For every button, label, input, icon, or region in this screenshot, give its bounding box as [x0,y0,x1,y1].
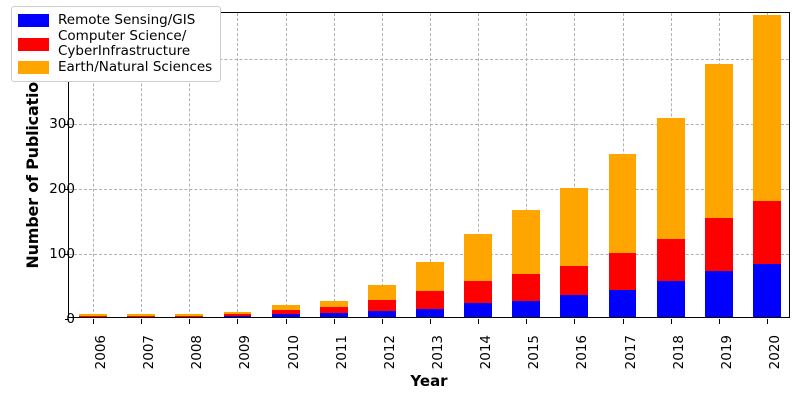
bar-segment-series-0[interactable] [705,271,733,317]
x-tick-label-2009: 2009 [237,335,253,395]
x-tick-mark [286,319,287,324]
x-tick-mark [767,319,768,324]
x-tick-label-2010: 2010 [286,335,302,395]
x-tick-mark [430,319,431,324]
bar-segment-series-1[interactable] [127,316,155,317]
bar-segment-series-2[interactable] [560,188,588,265]
bar-2016[interactable] [560,188,588,317]
bar-2013[interactable] [416,262,444,317]
bar-2017[interactable] [609,154,637,317]
legend-label: Computer Science/ CyberInfrastructure [58,29,190,59]
x-tick-label-2012: 2012 [382,335,398,395]
bar-segment-series-1[interactable] [175,316,203,317]
bar-2015[interactable] [512,210,540,317]
bar-segment-series-0[interactable] [368,311,396,317]
legend-item-2[interactable]: Earth/Natural Sciences [18,60,212,75]
bar-2020[interactable] [753,15,781,317]
bar-2010[interactable] [272,305,300,317]
bar-segment-series-1[interactable] [512,274,540,301]
bar-segment-series-1[interactable] [79,316,107,317]
bar-2011[interactable] [320,301,348,317]
x-tick-label-2019: 2019 [719,335,735,395]
x-tick-mark [526,319,527,324]
bar-2018[interactable] [657,118,685,317]
x-tick-label-2020: 2020 [767,335,783,395]
bar-segment-series-1[interactable] [705,218,733,271]
x-tick-label-2011: 2011 [334,335,350,395]
bar-segment-series-2[interactable] [705,64,733,218]
bar-segment-series-1[interactable] [464,281,492,304]
x-tick-mark [478,319,479,324]
bar-segment-series-0[interactable] [560,295,588,317]
x-tick-label-2016: 2016 [574,335,590,395]
x-tick-label-2008: 2008 [189,335,205,395]
bar-segment-series-0[interactable] [512,301,540,317]
bar-2014[interactable] [464,234,492,317]
bar-2009[interactable] [224,312,252,317]
x-tick-label-2007: 2007 [141,335,157,395]
legend-swatch-icon [18,61,49,74]
y-tick-label: 300 [31,116,75,132]
x-tick-mark [93,319,94,324]
bar-segment-series-1[interactable] [560,266,588,295]
x-tick-mark [623,319,624,324]
bar-segment-series-0[interactable] [753,264,781,317]
x-gridline [237,13,238,317]
x-tick-mark [671,319,672,324]
y-tick-label: 0 [31,311,75,327]
bar-segment-series-1[interactable] [368,300,396,311]
x-tick-label-2006: 2006 [93,335,109,395]
legend-label: Earth/Natural Sciences [58,60,212,75]
x-gridline [286,13,287,317]
bar-segment-series-1[interactable] [609,253,637,289]
y-tick-label: 100 [31,246,75,262]
bar-segment-series-0[interactable] [224,316,252,317]
x-tick-mark [574,319,575,324]
bar-segment-series-0[interactable] [272,314,300,317]
x-tick-mark [237,319,238,324]
bar-segment-series-2[interactable] [416,262,444,291]
bar-segment-series-2[interactable] [512,210,540,274]
x-tick-label-2017: 2017 [623,335,639,395]
bar-segment-series-0[interactable] [416,309,444,317]
bar-segment-series-2[interactable] [609,154,637,254]
bar-segment-series-1[interactable] [753,201,781,264]
legend-label: Remote Sensing/GIS [58,13,195,28]
x-tick-label-2014: 2014 [478,335,494,395]
bar-segment-series-2[interactable] [657,118,685,238]
bar-2019[interactable] [705,64,733,317]
bar-segment-series-1[interactable] [416,291,444,309]
bar-segment-series-2[interactable] [464,234,492,280]
x-gridline [334,13,335,317]
x-tick-mark [141,319,142,324]
stacked-bar-chart-figure: Number of Publications Year 010020030040… [0,0,800,400]
x-tick-mark [382,319,383,324]
x-tick-label-2013: 2013 [430,335,446,395]
bar-segment-series-0[interactable] [464,303,492,317]
bar-segment-series-0[interactable] [320,313,348,317]
bar-segment-series-0[interactable] [657,281,685,317]
y-tick-label: 200 [31,181,75,197]
bar-2007[interactable] [127,314,155,317]
legend-item-0[interactable]: Remote Sensing/GIS [18,13,212,28]
bar-segment-series-0[interactable] [609,290,637,317]
bar-segment-series-2[interactable] [368,285,396,300]
bar-2012[interactable] [368,285,396,317]
x-tick-mark [334,319,335,324]
legend-swatch-icon [18,38,49,51]
bar-segment-series-2[interactable] [753,15,781,201]
x-tick-label-2018: 2018 [671,335,687,395]
bar-2006[interactable] [79,314,107,317]
legend-item-1[interactable]: Computer Science/ CyberInfrastructure [18,29,212,59]
chart-legend: Remote Sensing/GISComputer Science/ Cybe… [11,6,221,82]
bar-segment-series-1[interactable] [657,239,685,281]
x-tick-mark [189,319,190,324]
legend-swatch-icon [18,14,49,27]
x-tick-mark [719,319,720,324]
bar-2008[interactable] [175,314,203,317]
x-tick-label-2015: 2015 [526,335,542,395]
x-gridline [382,13,383,317]
